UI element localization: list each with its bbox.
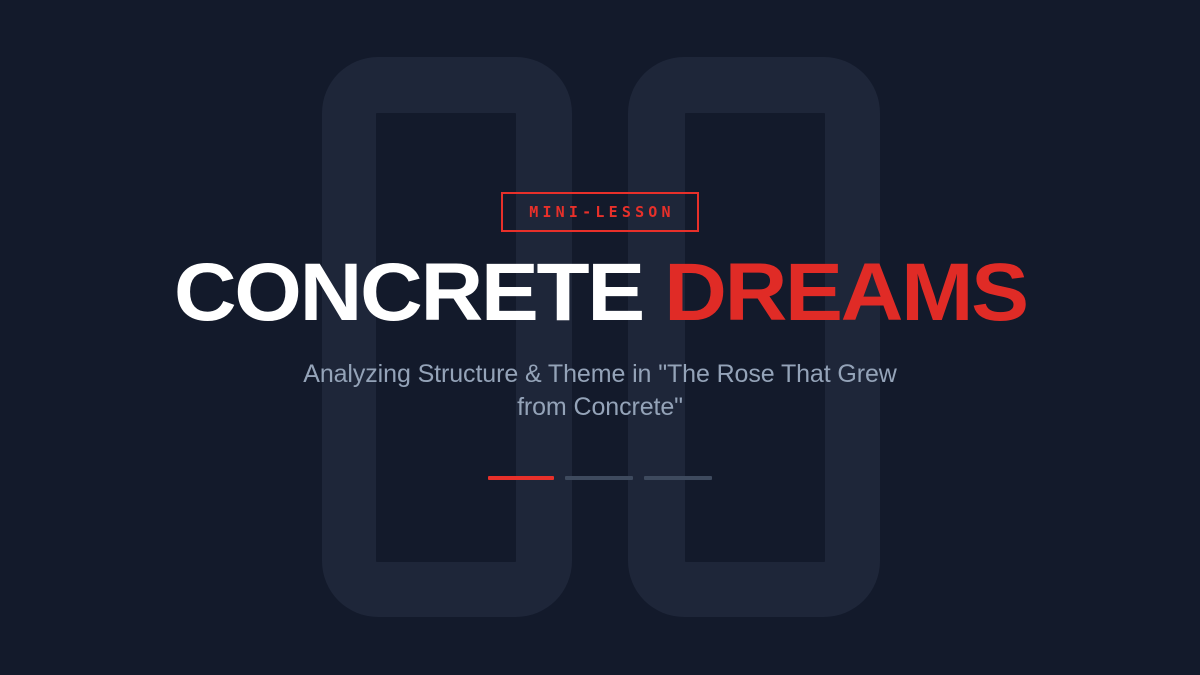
mini-lesson-badge: MINI-LESSON	[501, 192, 699, 232]
progress-step-1[interactable]	[488, 476, 554, 480]
page-subtitle: Analyzing Structure & Theme in "The Rose…	[280, 358, 920, 424]
progress-indicator	[488, 476, 712, 480]
progress-step-2[interactable]	[565, 476, 633, 480]
page-title-word-red: DREAMS	[664, 247, 1027, 338]
title-slide: MINI-LESSON CONCRETEDREAMS Analyzing Str…	[0, 0, 1200, 675]
page-title-word-white: CONCRETE	[174, 247, 643, 338]
page-title: CONCRETEDREAMS	[174, 254, 1027, 332]
progress-step-3[interactable]	[644, 476, 712, 480]
slide-content: MINI-LESSON CONCRETEDREAMS Analyzing Str…	[0, 0, 1200, 675]
